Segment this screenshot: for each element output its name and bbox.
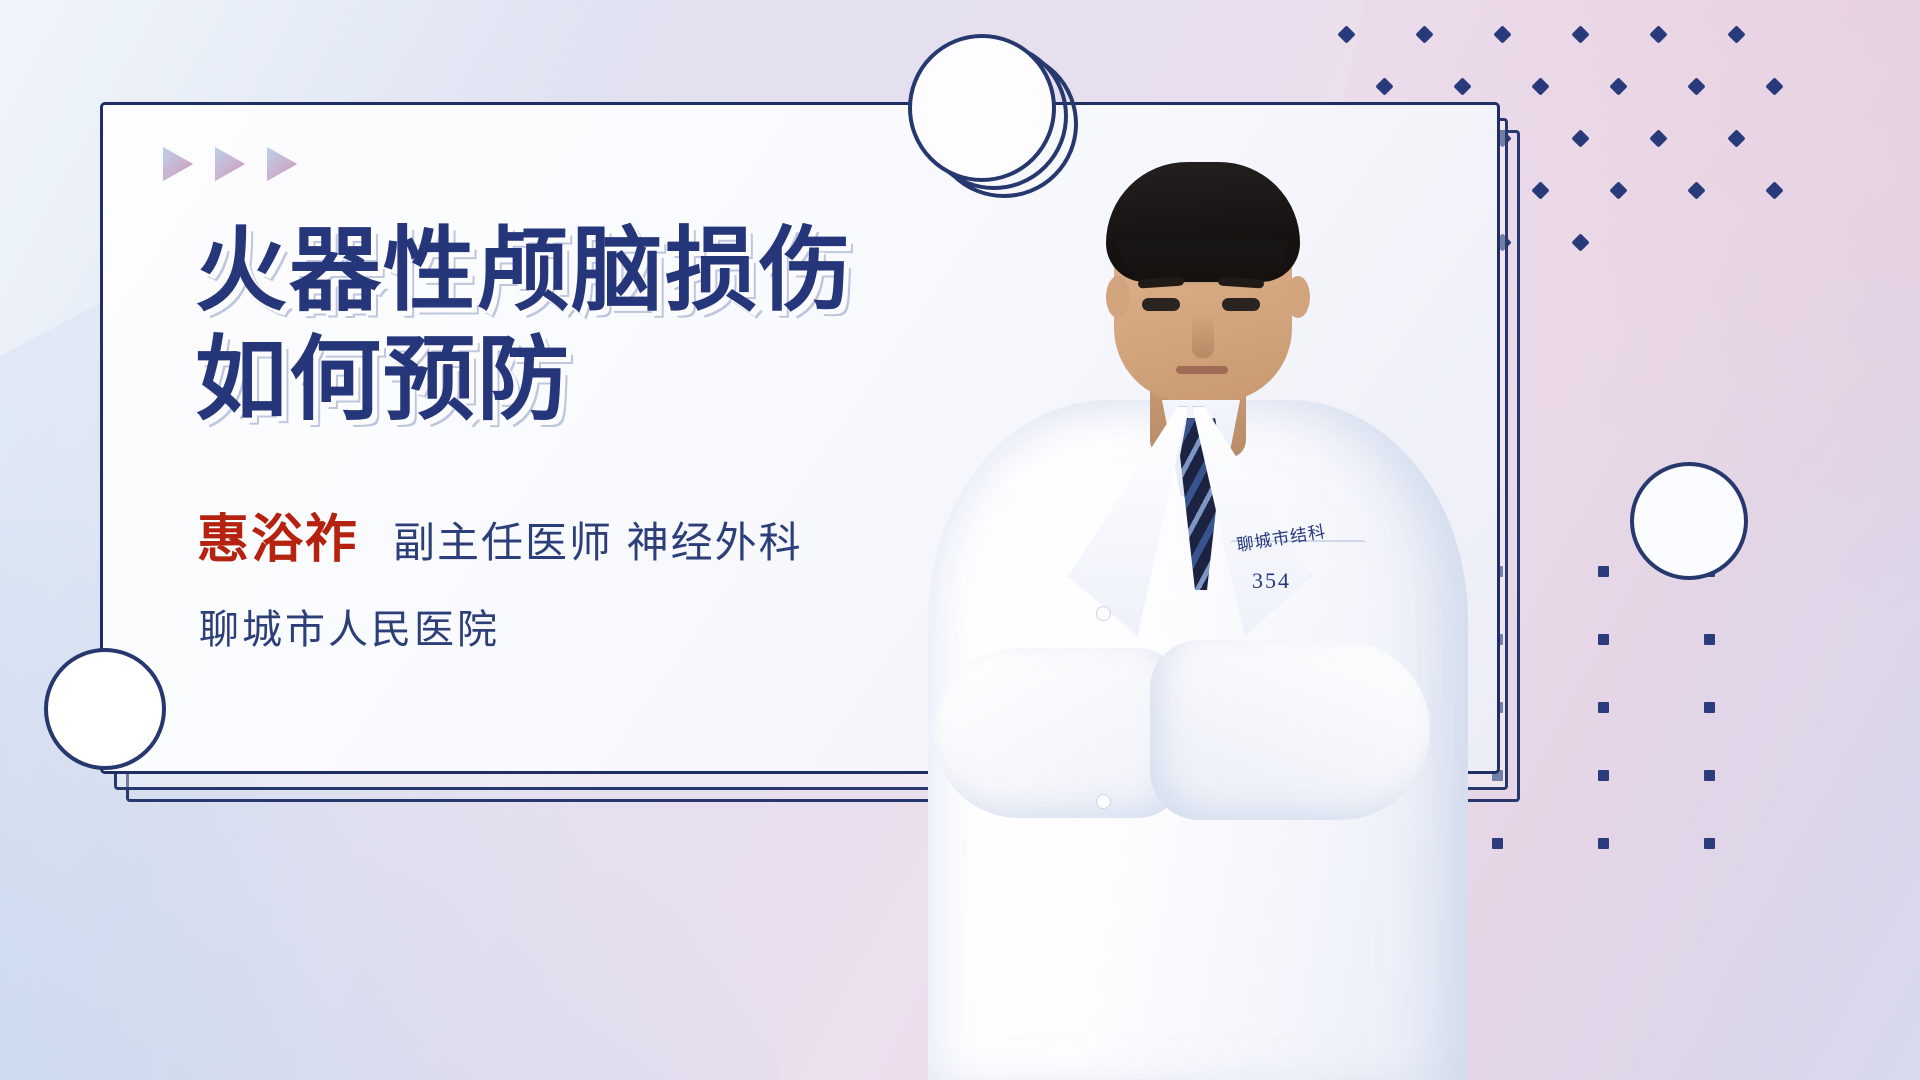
play-arrow-icon <box>267 147 297 181</box>
circle-outline-icon-right <box>1630 462 1748 580</box>
square-dot <box>1598 702 1609 713</box>
circle-outline-icon-bottom-left <box>44 648 166 770</box>
title-line-2: 如何预防 <box>195 329 571 431</box>
diamond-dot <box>1765 181 1783 199</box>
play-arrow-icon <box>215 147 245 181</box>
diamond-dot <box>1493 25 1511 43</box>
doctor-nose <box>1192 314 1214 358</box>
doctor-arm-left <box>934 648 1184 818</box>
diamond-dot <box>1375 77 1393 95</box>
play-arrow-icon <box>163 147 193 181</box>
diamond-dot <box>1727 129 1745 147</box>
arrow-decoration-group <box>163 147 297 181</box>
diamond-dot <box>1649 25 1667 43</box>
doctor-arm-right <box>1150 640 1430 820</box>
diamond-dot <box>1571 25 1589 43</box>
doctor-name: 惠浴祚 <box>197 497 359 572</box>
square-dot <box>1704 634 1715 645</box>
square-dot <box>1598 634 1609 645</box>
diamond-dot <box>1687 77 1705 95</box>
doctor-ear-right <box>1286 276 1310 318</box>
square-dot <box>1704 702 1715 713</box>
doctor-credential-row: 惠浴祚 副主任医师 神经外科 <box>197 497 803 572</box>
square-dot <box>1598 838 1609 849</box>
doctor-hair <box>1106 162 1300 282</box>
doctor-mouth <box>1176 366 1228 374</box>
diamond-dot <box>1687 181 1705 199</box>
coat-button <box>1096 606 1111 621</box>
square-dot <box>1598 566 1609 577</box>
page-title: 火器性颅脑损伤 如何预防 <box>195 217 853 434</box>
doctor-eye-right <box>1222 298 1260 311</box>
diamond-dot <box>1531 181 1549 199</box>
diamond-dot <box>1571 233 1589 251</box>
diamond-dot <box>1609 77 1627 95</box>
diamond-dot <box>1727 25 1745 43</box>
square-dot <box>1598 770 1609 781</box>
diamond-dot <box>1453 77 1471 95</box>
coat-badge-number: 354 <box>1252 568 1291 594</box>
diamond-dot <box>1765 77 1783 95</box>
diamond-dot <box>1531 77 1549 95</box>
doctor-title: 副主任医师 神经外科 <box>393 509 803 570</box>
coat-button <box>1096 794 1111 809</box>
square-dot <box>1704 770 1715 781</box>
hospital-name: 聊城市人民医院 <box>199 597 500 655</box>
coat-pocket <box>1230 540 1366 648</box>
square-dot <box>1704 838 1715 849</box>
diamond-dot <box>1571 129 1589 147</box>
diamond-dot <box>1337 25 1355 43</box>
diamond-dot <box>1609 181 1627 199</box>
title-card-canvas: 火器性颅脑损伤 如何预防 惠浴祚 副主任医师 神经外科 聊城市人民医院 <box>0 0 1920 1080</box>
diamond-dot <box>1415 25 1433 43</box>
diamond-dot <box>1649 129 1667 147</box>
doctor-eye-left <box>1142 298 1180 311</box>
doctor-portrait: 聊城市结科 354 <box>900 100 1500 1080</box>
title-line-1: 火器性颅脑损伤 <box>195 220 853 322</box>
doctor-ear-left <box>1106 276 1130 318</box>
